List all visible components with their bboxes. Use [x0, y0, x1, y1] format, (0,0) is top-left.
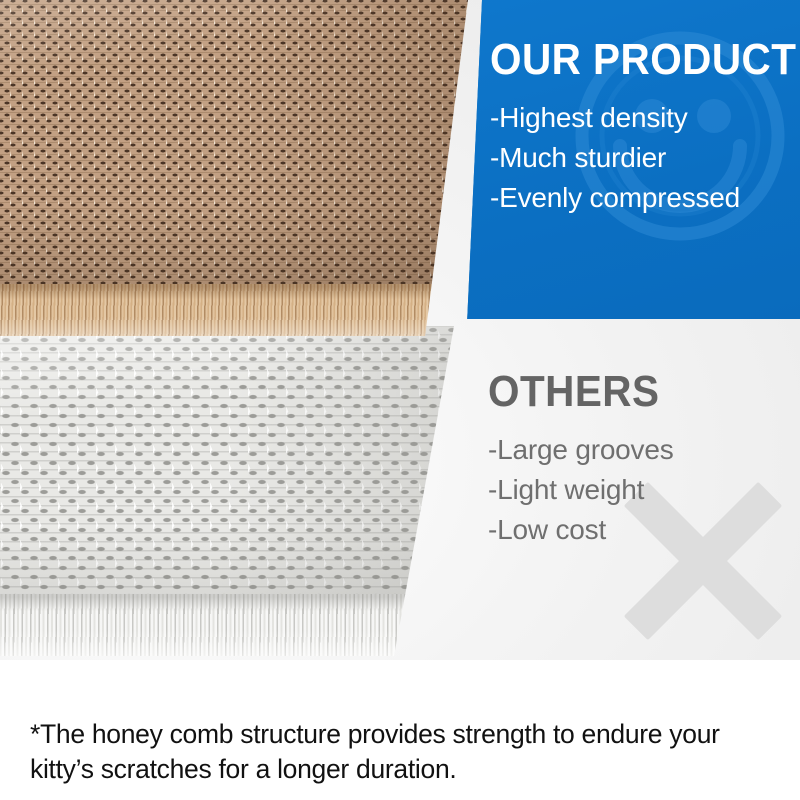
our-product-bullet-item: -Evenly compressed: [490, 178, 790, 218]
kraft-board-cut-edge: [0, 284, 470, 336]
others-text-block: OTHERS -Large grooves -Light weight -Low…: [488, 370, 788, 549]
others-bullet-list: -Large grooves -Light weight -Low cost: [488, 430, 788, 549]
others-bullet-item: -Large grooves: [488, 430, 788, 470]
our-product-heading: OUR PRODUCT: [490, 38, 766, 82]
white-board-cut-edge: [0, 594, 454, 656]
white-edge-shading: [0, 594, 454, 656]
others-heading: OTHERS: [488, 370, 764, 414]
our-product-bullet-item: -Highest density: [490, 98, 790, 138]
footnote-caption: *The honey comb structure provides stren…: [30, 717, 780, 788]
white-board-face: [0, 326, 454, 594]
kraft-board-face: [0, 0, 470, 284]
white-board-shading: [0, 326, 454, 594]
white-honeycomb-board: [0, 326, 454, 656]
infographic-root: OTHERS -Large grooves -Light weight -Low…: [0, 0, 800, 800]
kraft-honeycomb-board: [0, 0, 470, 336]
our-product-text-block: OUR PRODUCT -Highest density -Much sturd…: [490, 38, 790, 217]
our-product-bullet-item: -Much sturdier: [490, 138, 790, 178]
others-bullet-item: -Light weight: [488, 470, 788, 510]
kraft-board-shading: [0, 0, 470, 284]
kraft-edge-shading: [0, 284, 470, 336]
our-product-bullet-list: -Highest density -Much sturdier -Evenly …: [490, 98, 790, 217]
comparison-image-area: OTHERS -Large grooves -Light weight -Low…: [0, 0, 800, 660]
others-bullet-item: -Low cost: [488, 510, 788, 550]
caption-area: *The honey comb structure provides stren…: [0, 660, 800, 800]
